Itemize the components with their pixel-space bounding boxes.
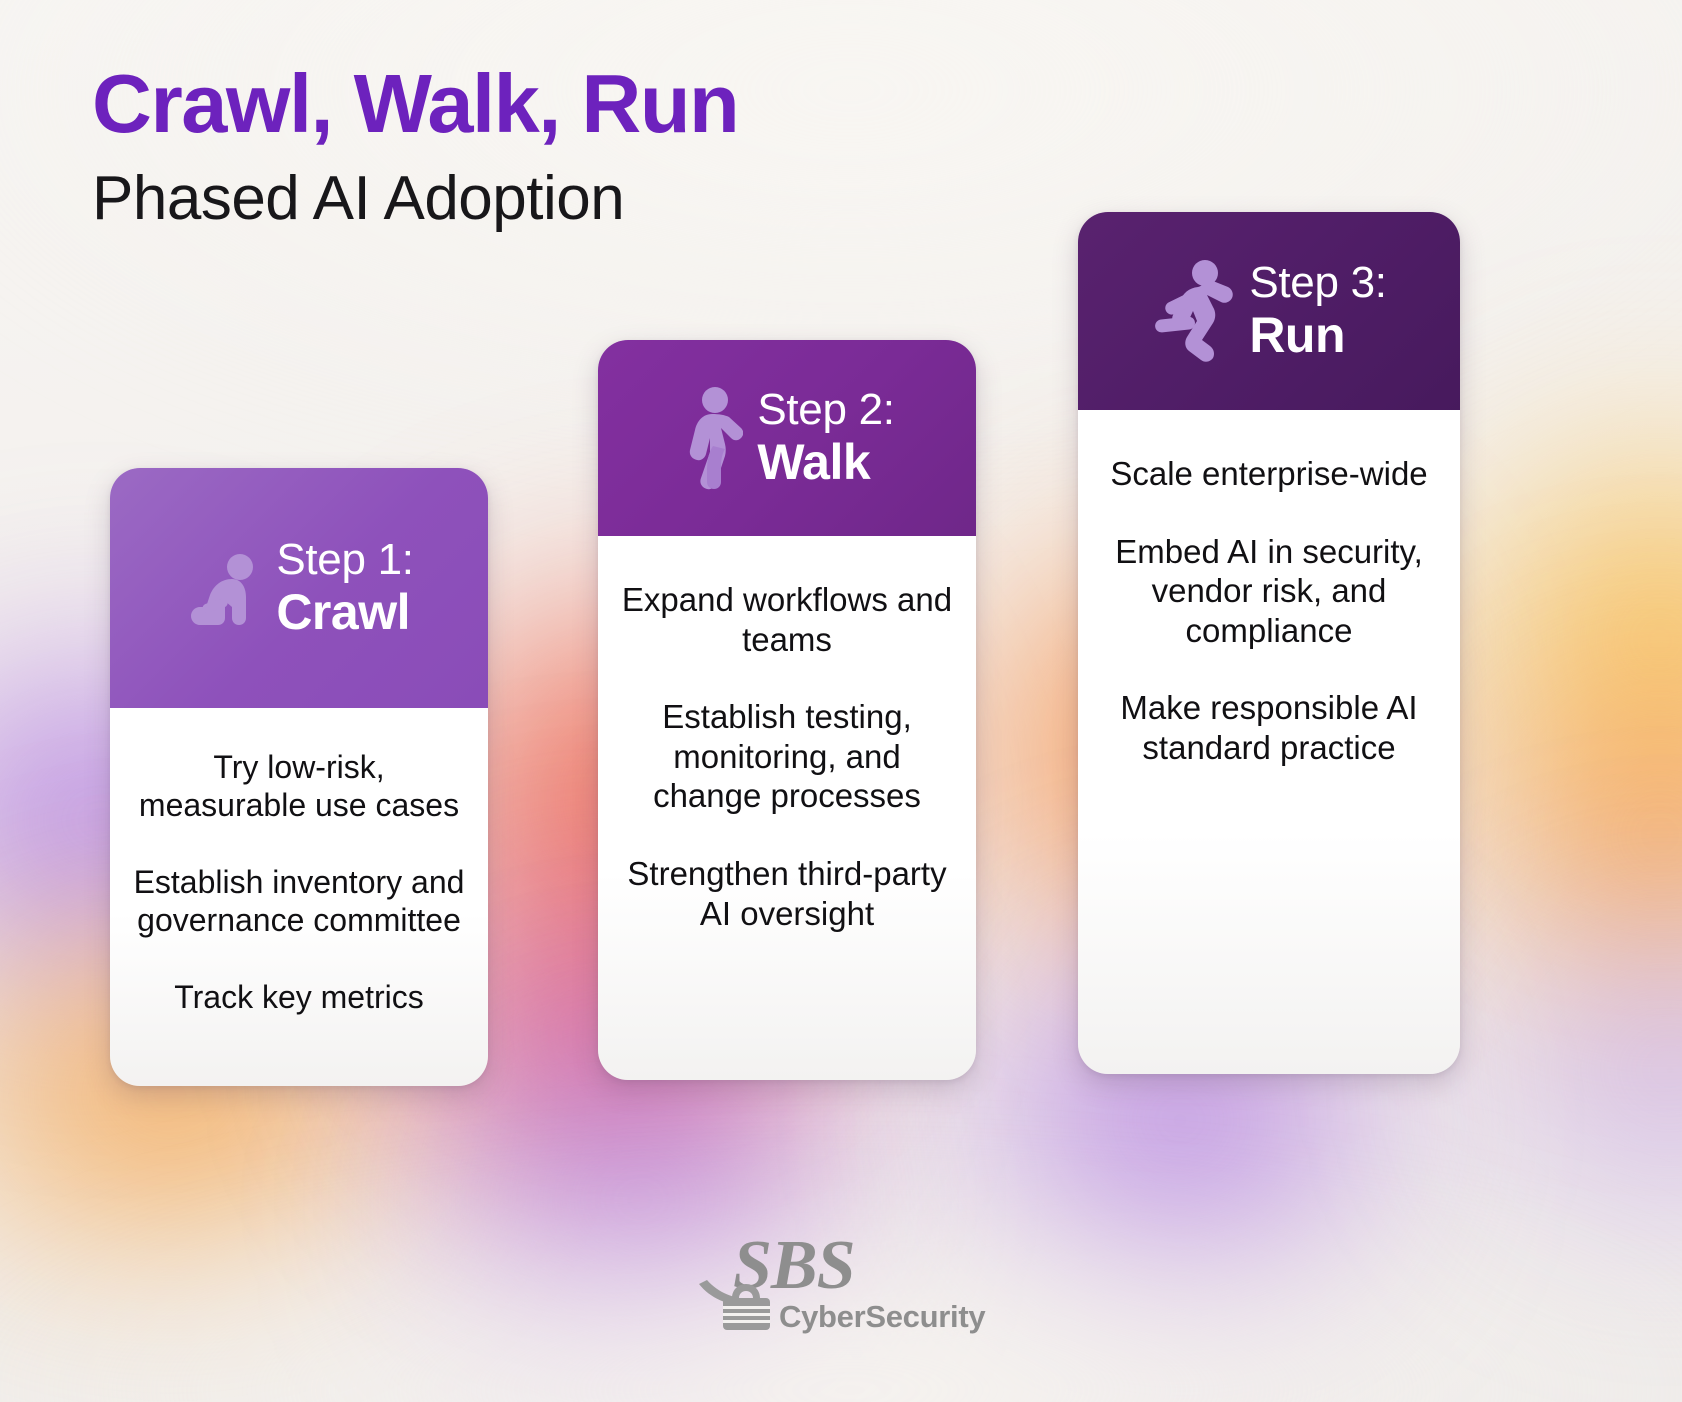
step-card-walk-number: Step 2: — [757, 388, 894, 433]
crawling-person-icon — [184, 545, 262, 631]
step-card-crawl-bullet-1: Try low-risk, measurable use cases — [132, 748, 466, 825]
step-card-walk-bullet-3: Strengthen third-party AI oversight — [620, 854, 954, 933]
step-card-walk-bullet-1: Expand workflows and teams — [620, 580, 954, 659]
running-person-icon — [1151, 259, 1235, 363]
step-card-crawl-word: Crawl — [276, 587, 413, 638]
logo-wordmark-text: CyberSecurity — [779, 1299, 986, 1334]
step-card-walk-word: Walk — [757, 437, 894, 488]
step-card-walk-header: Step 2: Walk — [598, 340, 976, 536]
step-card-crawl-label: Step 1: Crawl — [276, 538, 413, 638]
step-card-crawl-bullet-3: Track key metrics — [132, 978, 466, 1016]
step-card-crawl-bullet-2: Establish inventory and governance commi… — [132, 863, 466, 940]
step-card-run-bullet-1: Scale enterprise-wide — [1100, 454, 1438, 494]
page-title: Crawl, Walk, Run — [92, 60, 738, 147]
step-card-crawl[interactable]: Step 1: Crawl Try low-risk, measurable u… — [110, 468, 488, 1086]
page-subtitle: Phased AI Adoption — [92, 163, 738, 234]
step-card-walk-bullet-2: Establish testing, monitoring, and chang… — [620, 697, 954, 816]
step-card-run-body: Scale enterprise-wide Embed AI in securi… — [1078, 410, 1460, 1074]
step-card-walk[interactable]: Step 2: Walk Expand workflows and teams … — [598, 340, 976, 1080]
step-card-crawl-number: Step 1: — [276, 538, 413, 583]
step-card-walk-label: Step 2: Walk — [757, 388, 894, 488]
logo-svg: SBS CyberSecurity — [691, 1228, 991, 1338]
step-card-run-label: Step 3: Run — [1249, 261, 1386, 361]
walking-person-icon — [679, 386, 743, 490]
step-card-crawl-body: Try low-risk, measurable use cases Estab… — [110, 708, 488, 1086]
step-card-run[interactable]: Step 3: Run Scale enterprise-wide Embed … — [1078, 212, 1460, 1074]
step-card-walk-body: Expand workflows and teams Establish tes… — [598, 536, 976, 1080]
sbs-cybersecurity-logo: SBS CyberSecurity — [691, 1228, 991, 1338]
step-card-run-number: Step 3: — [1249, 261, 1386, 306]
page-header: Crawl, Walk, Run Phased AI Adoption — [92, 60, 738, 234]
step-card-run-bullet-3: Make responsible AI standard practice — [1100, 688, 1438, 767]
step-card-run-header: Step 3: Run — [1078, 212, 1460, 410]
step-card-crawl-header: Step 1: Crawl — [110, 468, 488, 708]
step-card-run-word: Run — [1249, 310, 1386, 361]
step-card-run-bullet-2: Embed AI in security, vendor risk, and c… — [1100, 532, 1438, 651]
